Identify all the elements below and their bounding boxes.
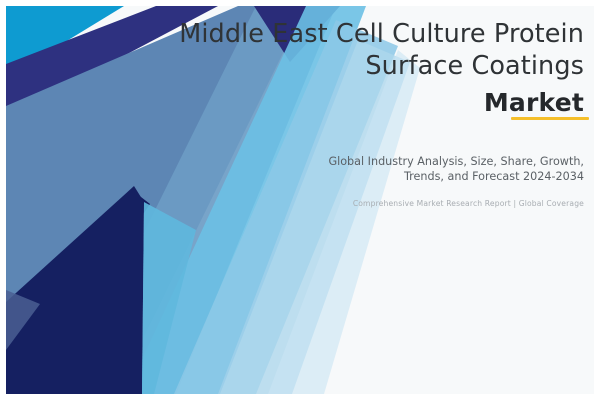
cover-page: Middle East Cell Culture Protein Surface… — [6, 6, 594, 394]
report-subtitle: Global Industry Analysis, Size, Share, G… — [306, 154, 584, 184]
report-caption: Comprehensive Market Research Report | G… — [306, 198, 584, 209]
market-underline-rule — [511, 117, 589, 120]
market-label: Market — [306, 88, 584, 118]
cover-text-layer: Middle East Cell Culture Protein Surface… — [6, 6, 594, 394]
report-cover: Middle East Cell Culture Protein Surface… — [0, 0, 600, 400]
page-title: Middle East Cell Culture Protein Surface… — [102, 18, 584, 82]
